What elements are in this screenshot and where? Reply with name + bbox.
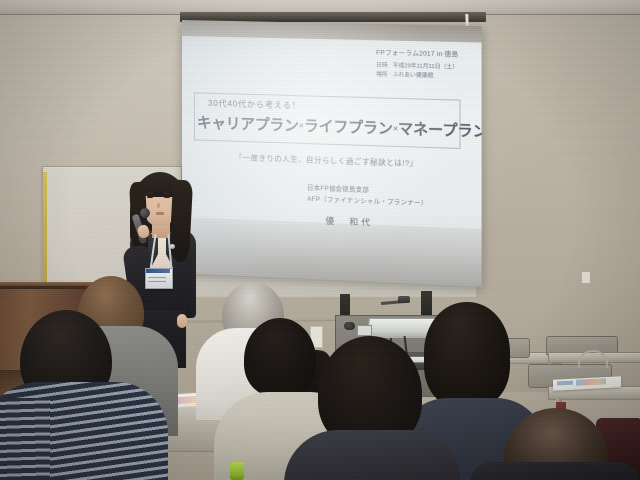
seminar-photo-scene: FPフォーラム2017 in 徳島 日時 平成29年11月11日（土） 場所 ふ… <box>0 0 640 480</box>
audience-ponytail-woman-head <box>244 318 316 396</box>
slide-title-part-1: キャリアプラン <box>197 115 299 134</box>
audience-balding-man-body <box>470 462 640 480</box>
slide-conference-name: FPフォーラム2017 in 徳島 <box>376 48 458 60</box>
slide-tagline: 『一度きりの人生、自分らしく過ごす秘訣とは!?』 <box>188 150 467 171</box>
presenter-mouth <box>156 212 164 215</box>
name-badge-header-bar <box>146 269 170 273</box>
audience-dark-hair-woman-body <box>284 430 460 480</box>
name-badge-text-line-1 <box>148 277 166 278</box>
audience-long-hair-person-head <box>424 302 510 406</box>
green-drink-cup[interactable] <box>230 462 244 480</box>
presenter-eyebrow-left <box>146 192 153 194</box>
lapel-pin-icon <box>170 244 175 249</box>
slide-meta-venue-value: ふれあい健康館 <box>393 71 434 81</box>
audience-striped-shirt-person-shoulder <box>0 398 50 480</box>
cart-control-panel[interactable] <box>357 325 372 336</box>
slide-title-part-3: マネープラン <box>398 121 482 140</box>
slide-meta-venue-key: 場所 <box>376 70 393 80</box>
presenter-nose <box>157 203 160 208</box>
cart-control-knob[interactable] <box>344 322 355 330</box>
presenter-hand-lower <box>177 314 187 328</box>
overhead-projector-head <box>398 296 410 303</box>
presenter-eyebrow-right <box>163 192 170 194</box>
slide-header: FPフォーラム2017 in 徳島 日時 平成29年11月11日（土） 場所 ふ… <box>376 48 458 81</box>
handout-paper-blue <box>557 381 573 386</box>
projection-screen: FPフォーラム2017 in 徳島 日時 平成29年11月11日（土） 場所 ふ… <box>182 20 482 287</box>
name-badge-text-line-2 <box>148 281 166 282</box>
wall-notice-paper-small <box>582 272 590 283</box>
whiteboard-marker-tray <box>43 172 47 284</box>
slide-meta-date-key: 日時 <box>376 61 393 71</box>
slide-title-part-2: ライフプラン <box>304 119 393 138</box>
projected-slide: FPフォーラム2017 in 徳島 日時 平成29年11月11日（土） 場所 ふ… <box>188 38 475 246</box>
